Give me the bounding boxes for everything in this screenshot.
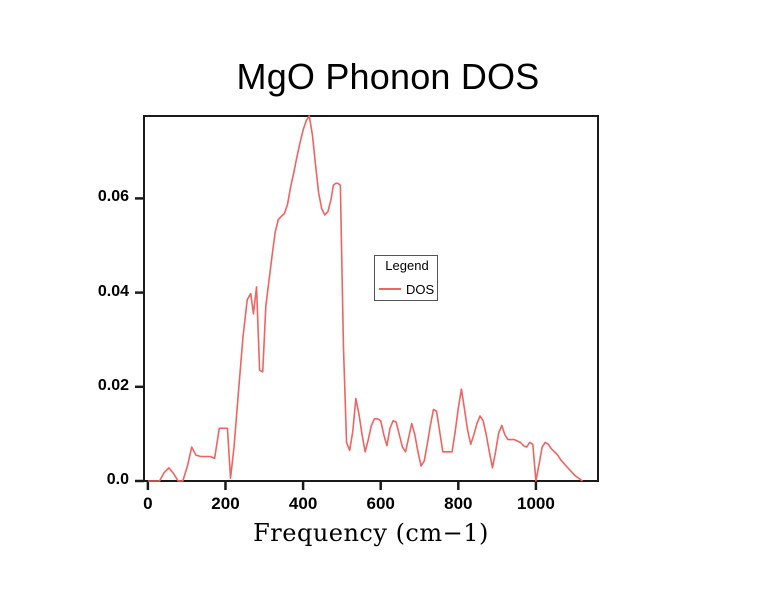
x-tick-label: 600 xyxy=(341,494,421,514)
y-tick-label: 0.0 xyxy=(63,471,129,489)
chart-figure: MgO Phonon DOS Frequency (cm−1) 0.00.020… xyxy=(0,0,776,600)
x-tick-label: 800 xyxy=(418,494,498,514)
x-axis-ticks xyxy=(148,481,536,490)
y-axis-ticks xyxy=(135,198,144,481)
legend-color-swatch xyxy=(379,288,401,290)
x-tick-label: 0 xyxy=(108,494,188,514)
x-axis-label: Frequency (cm−1) xyxy=(144,519,598,547)
legend-title: Legend xyxy=(375,258,439,273)
legend-entry-label: DOS xyxy=(406,282,434,297)
y-tick-label: 0.06 xyxy=(63,188,129,206)
x-tick-label: 1000 xyxy=(496,494,576,514)
legend-entry-dos[interactable]: DOS xyxy=(375,280,439,298)
x-tick-label: 400 xyxy=(263,494,343,514)
x-tick-label: 200 xyxy=(185,494,265,514)
y-tick-label: 0.04 xyxy=(63,283,129,301)
y-tick-label: 0.02 xyxy=(63,377,129,395)
legend: Legend DOS xyxy=(374,255,438,301)
